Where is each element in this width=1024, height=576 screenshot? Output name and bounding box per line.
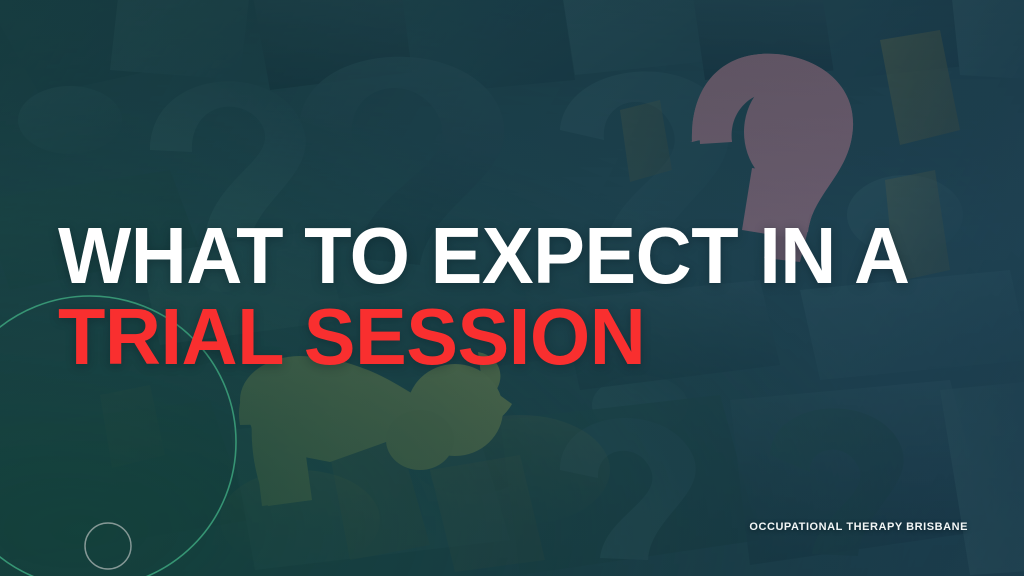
headline-line-accent: TRIAL SESSION [58,298,910,376]
hero-banner: WHAT TO EXPECT IN A TRIAL SESSION OCCUPA… [0,0,1024,576]
headline-line-primary: WHAT TO EXPECT IN A [58,217,910,295]
page-title: WHAT TO EXPECT IN A TRIAL SESSION [58,217,936,376]
brand-caption: OCCUPATIONAL THERAPY BRISBANE [749,521,968,533]
